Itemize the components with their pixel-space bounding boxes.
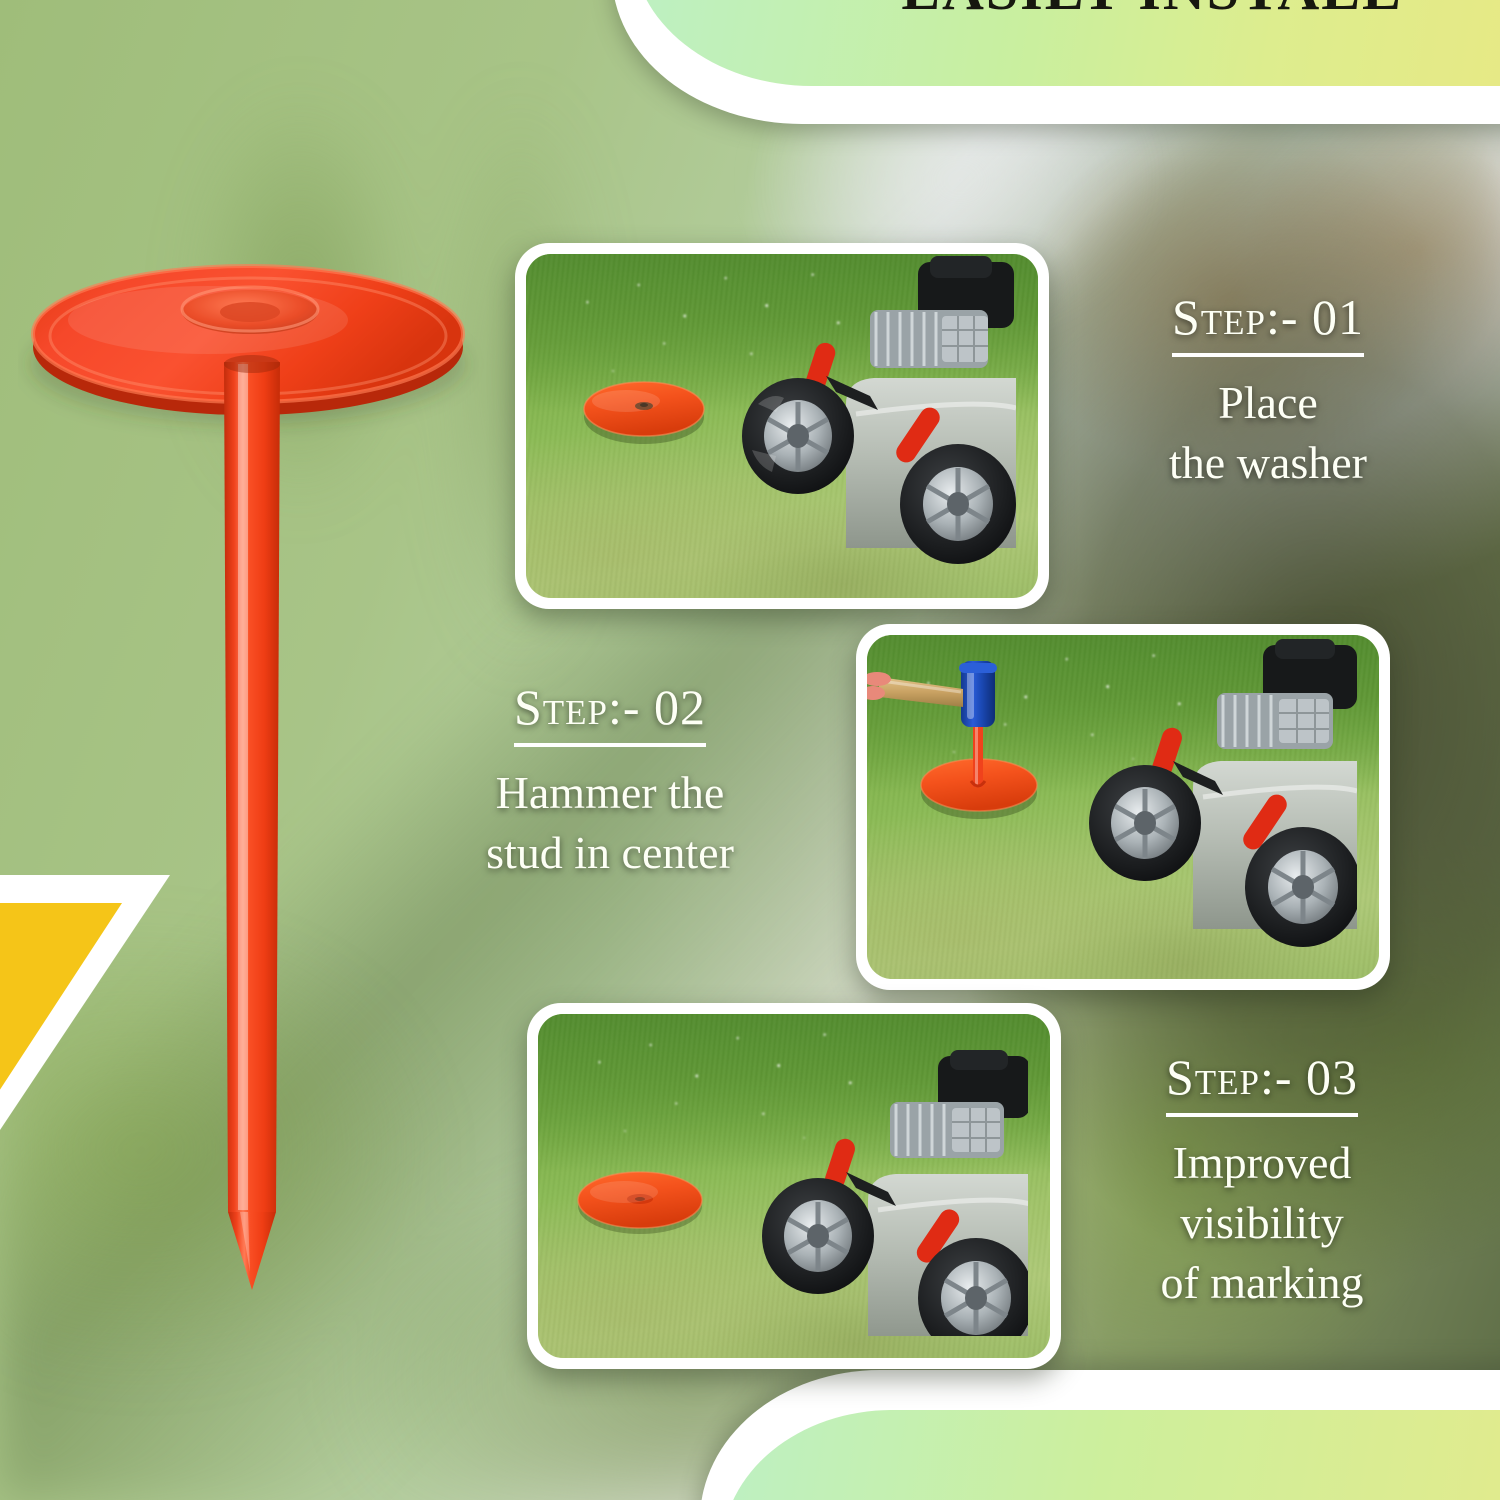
step-body-line: the washer — [1053, 433, 1483, 493]
header-banner: EASILY INSTALL — [612, 0, 1500, 124]
step-body-line: Place — [1053, 373, 1483, 433]
step-body-line: stud in center — [400, 823, 820, 883]
step-heading-02: Step:- 02 — [400, 678, 820, 747]
step-body-03: Improved visibility of marking — [1052, 1133, 1472, 1312]
photo-installed-marker — [538, 1014, 1050, 1358]
step-body-line: visibility — [1052, 1193, 1472, 1253]
footer-banner-fill — [722, 1410, 1500, 1500]
photo-card-step-01 — [515, 243, 1049, 609]
photo-hammering-stud — [867, 635, 1379, 979]
photo-card-step-03 — [527, 1003, 1061, 1369]
page-title: EASILY INSTALL — [802, 0, 1500, 23]
step-body-line: of marking — [1052, 1253, 1472, 1313]
step-heading-01: Step:- 01 — [1053, 288, 1483, 357]
step-heading-03: Step:- 03 — [1052, 1048, 1472, 1117]
footer-banner — [700, 1370, 1500, 1500]
step-text-01: Step:- 01 Place the washer — [1053, 288, 1483, 493]
step-body-line: Hammer the — [400, 763, 820, 823]
photo-washer-on-lawn — [526, 254, 1038, 598]
step-body-01: Place the washer — [1053, 373, 1483, 493]
step-body-line: Improved — [1052, 1133, 1472, 1193]
step-text-02: Step:- 02 Hammer the stud in center — [400, 678, 820, 883]
photo-card-step-02 — [856, 624, 1390, 990]
step-body-02: Hammer the stud in center — [400, 763, 820, 883]
step-text-03: Step:- 03 Improved visibility of marking — [1052, 1048, 1472, 1312]
infographic-canvas: EASILY INSTALL — [0, 0, 1500, 1500]
